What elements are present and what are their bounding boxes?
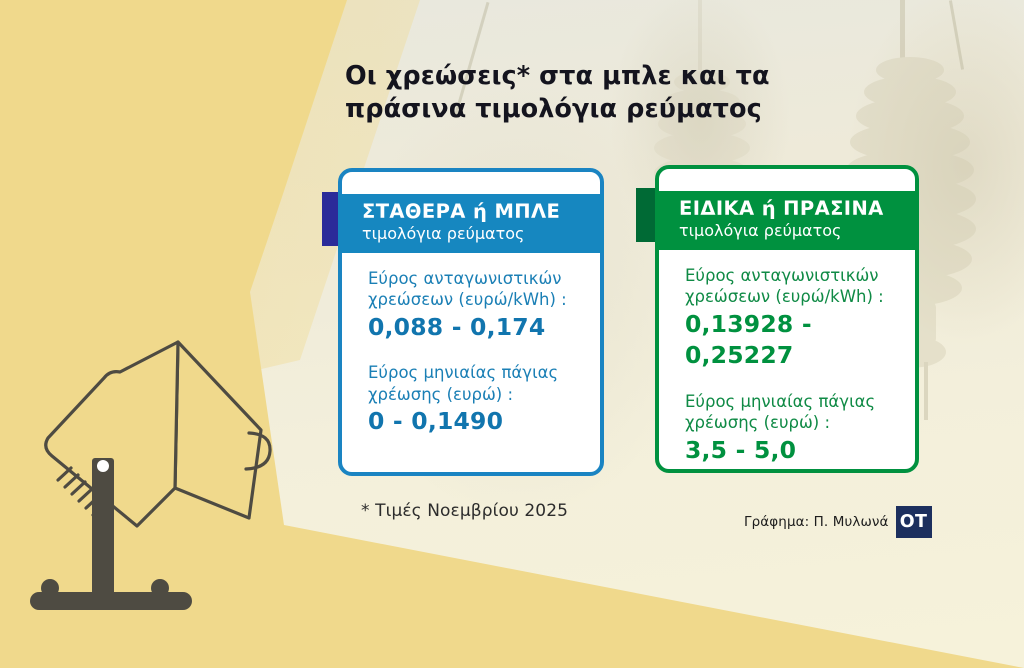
credit: Γράφημα: Π. Μυλωνά OT bbox=[744, 506, 932, 538]
card-green-subtitle: τιμολόγια ρεύματος bbox=[679, 221, 919, 241]
card-green: ΕΙΔΙΚΑ ή ΠΡΑΣΙΝΑ τιμολόγια ρεύματος Εύρο… bbox=[655, 165, 919, 473]
card-green-header: ΕΙΔΙΚΑ ή ΠΡΑΣΙΝΑ τιμολόγια ρεύματος bbox=[655, 191, 919, 250]
credit-text: Γράφημα: Π. Μυλωνά bbox=[744, 514, 889, 530]
metric-value: 0,13928 - 0,25227 bbox=[685, 309, 913, 372]
metric-label: Εύρος μηνιαίας πάγιας χρέωσης (ευρώ) : bbox=[368, 362, 596, 405]
card-blue: ΣΤΑΘΕΡΑ ή ΜΠΛΕ τιμολόγια ρεύματος Εύρος … bbox=[338, 168, 604, 476]
metric-label: Εύρος ανταγωνιστικών χρεώσεων (ευρώ/kWh)… bbox=[368, 268, 596, 311]
card-blue-title: ΣΤΑΘΕΡΑ ή ΜΠΛΕ bbox=[362, 201, 604, 223]
card-green-body: Εύρος ανταγωνιστικών χρεώσεων (ευρώ/kWh)… bbox=[685, 265, 913, 466]
metric-label: Εύρος μηνιαίας πάγιας χρέωσης (ευρώ) : bbox=[685, 391, 913, 434]
infographic-canvas: Οι χρεώσεις* στα μπλε και τα πράσινα τιμ… bbox=[0, 0, 1024, 668]
metric-green-competitive: Εύρος ανταγωνιστικών χρεώσεων (ευρώ/kWh)… bbox=[685, 265, 913, 372]
footnote: * Τιμές Νοεμβρίου 2025 bbox=[361, 501, 568, 521]
ot-logo: OT bbox=[896, 506, 932, 538]
card-blue-subtitle: τιμολόγια ρεύματος bbox=[362, 224, 604, 244]
metric-green-fixed: Εύρος μηνιαίας πάγιας χρέωσης (ευρώ) : 3… bbox=[685, 391, 913, 466]
metric-value: 3,5 - 5,0 bbox=[685, 435, 913, 466]
metric-label: Εύρος ανταγωνιστικών χρεώσεων (ευρώ/kWh)… bbox=[685, 265, 913, 308]
megaphone-icon bbox=[30, 330, 320, 640]
metric-value: 0,088 - 0,174 bbox=[368, 312, 596, 343]
metric-value: 0 - 0,1490 bbox=[368, 406, 596, 437]
metric-blue-competitive: Εύρος ανταγωνιστικών χρεώσεων (ευρώ/kWh)… bbox=[368, 268, 596, 343]
metric-blue-fixed: Εύρος μηνιαίας πάγιας χρέωσης (ευρώ) : 0… bbox=[368, 362, 596, 437]
page-title: Οι χρεώσεις* στα μπλε και τα πράσινα τιμ… bbox=[345, 60, 865, 125]
card-green-title: ΕΙΔΙΚΑ ή ΠΡΑΣΙΝΑ bbox=[679, 198, 919, 220]
card-blue-header: ΣΤΑΘΕΡΑ ή ΜΠΛΕ τιμολόγια ρεύματος bbox=[338, 194, 604, 253]
card-blue-body: Εύρος ανταγωνιστικών χρεώσεων (ευρώ/kWh)… bbox=[368, 268, 596, 438]
